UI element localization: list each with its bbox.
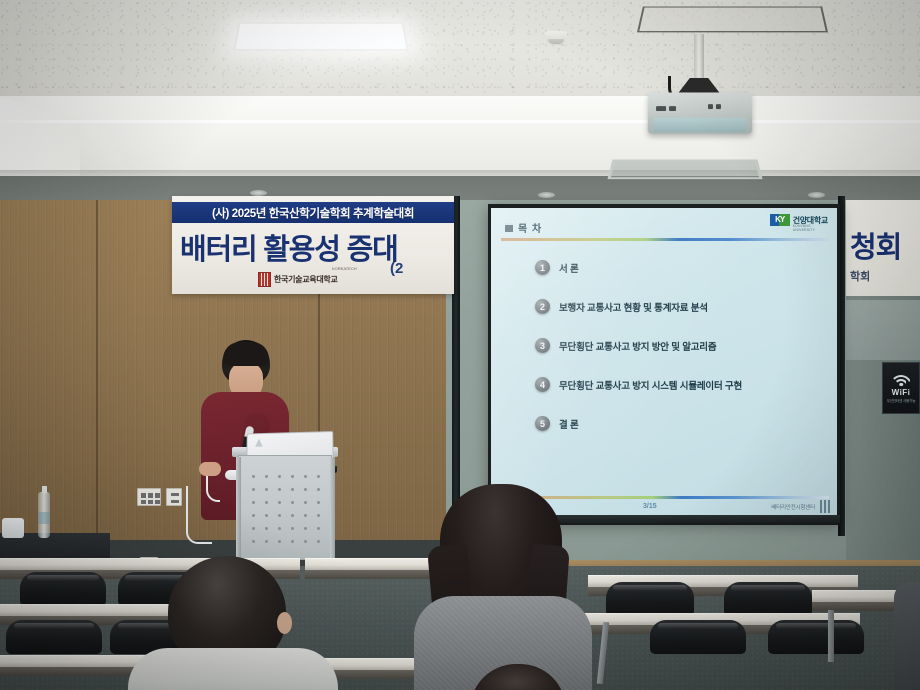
lecture-hall-photo: (사) 2025년 한국산학기술학회 추계학술대회 배터리 활용성 증대 (2 … <box>0 0 920 690</box>
presenter-hair-front <box>223 342 269 366</box>
wall-switch-plate[interactable] <box>137 488 161 506</box>
list-item: 3 무단횡단 교통사고 방지 방안 및 알고리즘 <box>535 338 823 353</box>
banner-title: 배터리 활용성 증대 <box>180 226 454 268</box>
chair[interactable] <box>724 582 812 616</box>
wifi-icon <box>890 372 912 386</box>
list-icon <box>505 223 513 232</box>
toc-number: 1 <box>535 260 550 275</box>
toc-label: 무단횡단 교통사고 방지 시스템 시뮬레이터 구현 <box>559 378 742 392</box>
toc-number: 3 <box>535 338 550 353</box>
slide-title: 목 차 <box>518 220 542 235</box>
toc-number: 2 <box>535 299 550 314</box>
konyang-university-logo: KY 건양대학교 KONYANG UNIVERSITY <box>770 214 828 226</box>
konyang-logo-sub: KONYANG UNIVERSITY <box>793 224 828 232</box>
koreatech-logo-mark <box>258 272 271 287</box>
ceiling-light-panel <box>233 22 408 50</box>
projection-screen: 목 차 KY 건양대학교 KONYANG UNIVERSITY 1 서 론 2 … <box>488 204 840 522</box>
slide-toc-list: 1 서 론 2 보행자 교통사고 현황 및 통계자료 분석 3 무단횡단 교통사… <box>535 260 823 455</box>
presenter-hand-left <box>199 462 221 476</box>
list-item: 4 무단횡단 교통사고 방지 시스템 시뮬레이터 구현 <box>535 377 823 392</box>
slide-surface: 목 차 KY 건양대학교 KONYANG UNIVERSITY 1 서 론 2 … <box>491 208 837 515</box>
soffit-highlight <box>0 120 920 123</box>
desk-leg <box>828 610 834 662</box>
chair[interactable] <box>650 620 746 654</box>
banner-subtitle: (2 <box>390 260 403 277</box>
list-item: 2 보행자 교통사고 현황 및 통계자료 분석 <box>535 299 823 314</box>
wall-panel-seam <box>96 200 98 540</box>
conference-banner-right-fragment: 청회 학회 <box>846 200 920 296</box>
toc-label: 서 론 <box>559 261 579 275</box>
slide-header-gradient-rule <box>501 238 829 241</box>
audience-member-right-edge <box>894 582 920 690</box>
konyang-logo-mark: KY <box>770 214 790 226</box>
slide-page-number: 3/15 <box>643 503 657 510</box>
wall-outlet-plate[interactable] <box>166 488 182 506</box>
projector-mount-pole <box>694 34 704 80</box>
wifi-sublabel: 무선인터넷 사용가능 <box>887 399 916 404</box>
wifi-sign: WiFi 무선인터넷 사용가능 <box>882 362 920 414</box>
podium-leg <box>330 457 335 563</box>
air-vent <box>607 160 762 180</box>
smoke-detector-icon <box>545 31 567 45</box>
tissue-box <box>2 518 24 538</box>
toc-label: 결 론 <box>559 417 579 431</box>
banner-right-title: 청회 <box>850 224 901 266</box>
audience-ear <box>277 612 292 634</box>
downlight <box>538 192 555 198</box>
banner-right-subtitle: 학회 <box>850 268 870 284</box>
audience-hoodie <box>128 648 338 690</box>
koreatech-logo: 한국기술교육대학교 KOREATECH <box>258 272 338 287</box>
ceiling-soffit <box>0 96 920 180</box>
podium-perforation <box>247 470 323 549</box>
slide-footer-gradient-rule <box>501 496 829 499</box>
koreatech-logo-text: 한국기술교육대학교 <box>274 274 338 285</box>
bottle-label <box>38 512 50 524</box>
chair[interactable] <box>606 582 694 616</box>
toc-label: 보행자 교통사고 현황 및 통계자료 분석 <box>559 300 708 314</box>
toc-number: 4 <box>535 377 550 392</box>
wall-glass-panel <box>846 300 920 360</box>
toc-number: 5 <box>535 416 550 431</box>
banner-event-text: (사) 2025년 한국산학기술학회 추계학술대회 <box>212 205 414 221</box>
water-bottle <box>38 492 50 538</box>
laptop-logo-icon <box>255 439 263 447</box>
list-item: 1 서 론 <box>535 260 823 275</box>
slide-footer-brand: 배터리안전시험센터 <box>771 503 815 511</box>
chair[interactable] <box>6 620 102 654</box>
slide-footer-bars-icon <box>820 500 831 513</box>
koreatech-logo-tagline: KOREATECH <box>332 266 357 271</box>
chair[interactable] <box>20 572 106 606</box>
ceiling-access-hatch <box>637 6 828 32</box>
conference-banner: (사) 2025년 한국산학기술학회 추계학술대회 배터리 활용성 증대 (2 … <box>172 196 454 294</box>
podium-leg <box>236 457 241 563</box>
chair[interactable] <box>768 620 864 654</box>
downlight <box>808 192 825 198</box>
banner-event-strip: (사) 2025년 한국산학기술학회 추계학술대회 <box>172 202 454 223</box>
toc-label: 무단횡단 교통사고 방지 방안 및 알고리즘 <box>559 339 716 353</box>
list-item: 5 결 론 <box>535 416 823 431</box>
podium <box>238 455 332 560</box>
ceiling-projector <box>648 92 753 133</box>
wifi-label: WiFi <box>892 388 911 397</box>
